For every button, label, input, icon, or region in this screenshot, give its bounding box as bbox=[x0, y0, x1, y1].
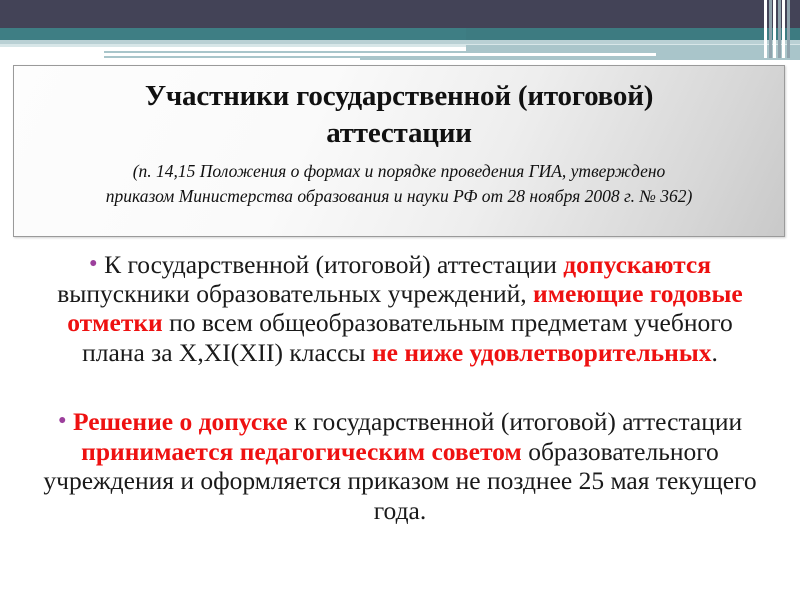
header-tick-gap-1 bbox=[764, 0, 767, 58]
bullet-1-segment-2: допускаются bbox=[563, 250, 711, 279]
slide-title-line-1: Участники государственной (итоговой) bbox=[40, 78, 758, 115]
bullet-2-segment-1: Решение о допуске bbox=[73, 407, 288, 436]
header-tick-gap-2 bbox=[773, 0, 776, 58]
bullet-1-segment-6: не ниже удовлетворительных bbox=[372, 338, 712, 367]
bullet-paragraph-1: • К государственной (итоговой) аттестаци… bbox=[40, 250, 760, 368]
header-tick-mark-2 bbox=[778, 0, 781, 58]
slide-title-line-2: аттестации bbox=[40, 115, 758, 152]
bullet-1-segment-3: выпускники образовательных учреждений, bbox=[57, 279, 533, 308]
slide-subtitle-line-1: (п. 14,15 Положения о формах и порядке п… bbox=[40, 159, 758, 184]
header-tick-mark-1 bbox=[769, 0, 772, 58]
header-band-white-stripe bbox=[104, 53, 656, 56]
bullet-marker-icon: • bbox=[58, 408, 67, 435]
slide-body: • К государственной (итоговой) аттестаци… bbox=[40, 224, 760, 551]
bullet-paragraph-2: • Решение о допуске к государственной (и… bbox=[40, 407, 760, 525]
bullet-1-segment-7: . bbox=[712, 338, 718, 367]
slide-title-card: Участники государственной (итоговой) атт… bbox=[13, 65, 785, 237]
header-tick-gap-3 bbox=[782, 0, 785, 58]
header-band-white-step bbox=[360, 60, 800, 63]
slide-subtitle-line-2: приказом Министерства образования и наук… bbox=[40, 184, 758, 209]
header-tick-mark-3 bbox=[787, 0, 790, 58]
bullet-2-segment-2: к государственной (итоговой) аттестации bbox=[288, 407, 743, 436]
bullet-marker-icon: • bbox=[89, 250, 98, 277]
bullet-2-segment-3: принимается педагогическим советом bbox=[81, 437, 522, 466]
header-band-dark bbox=[0, 0, 800, 28]
presentation-slide: Участники государственной (итоговой) атт… bbox=[0, 0, 800, 600]
bullet-1-segment-1: К государственной (итоговой) аттестации bbox=[104, 250, 563, 279]
